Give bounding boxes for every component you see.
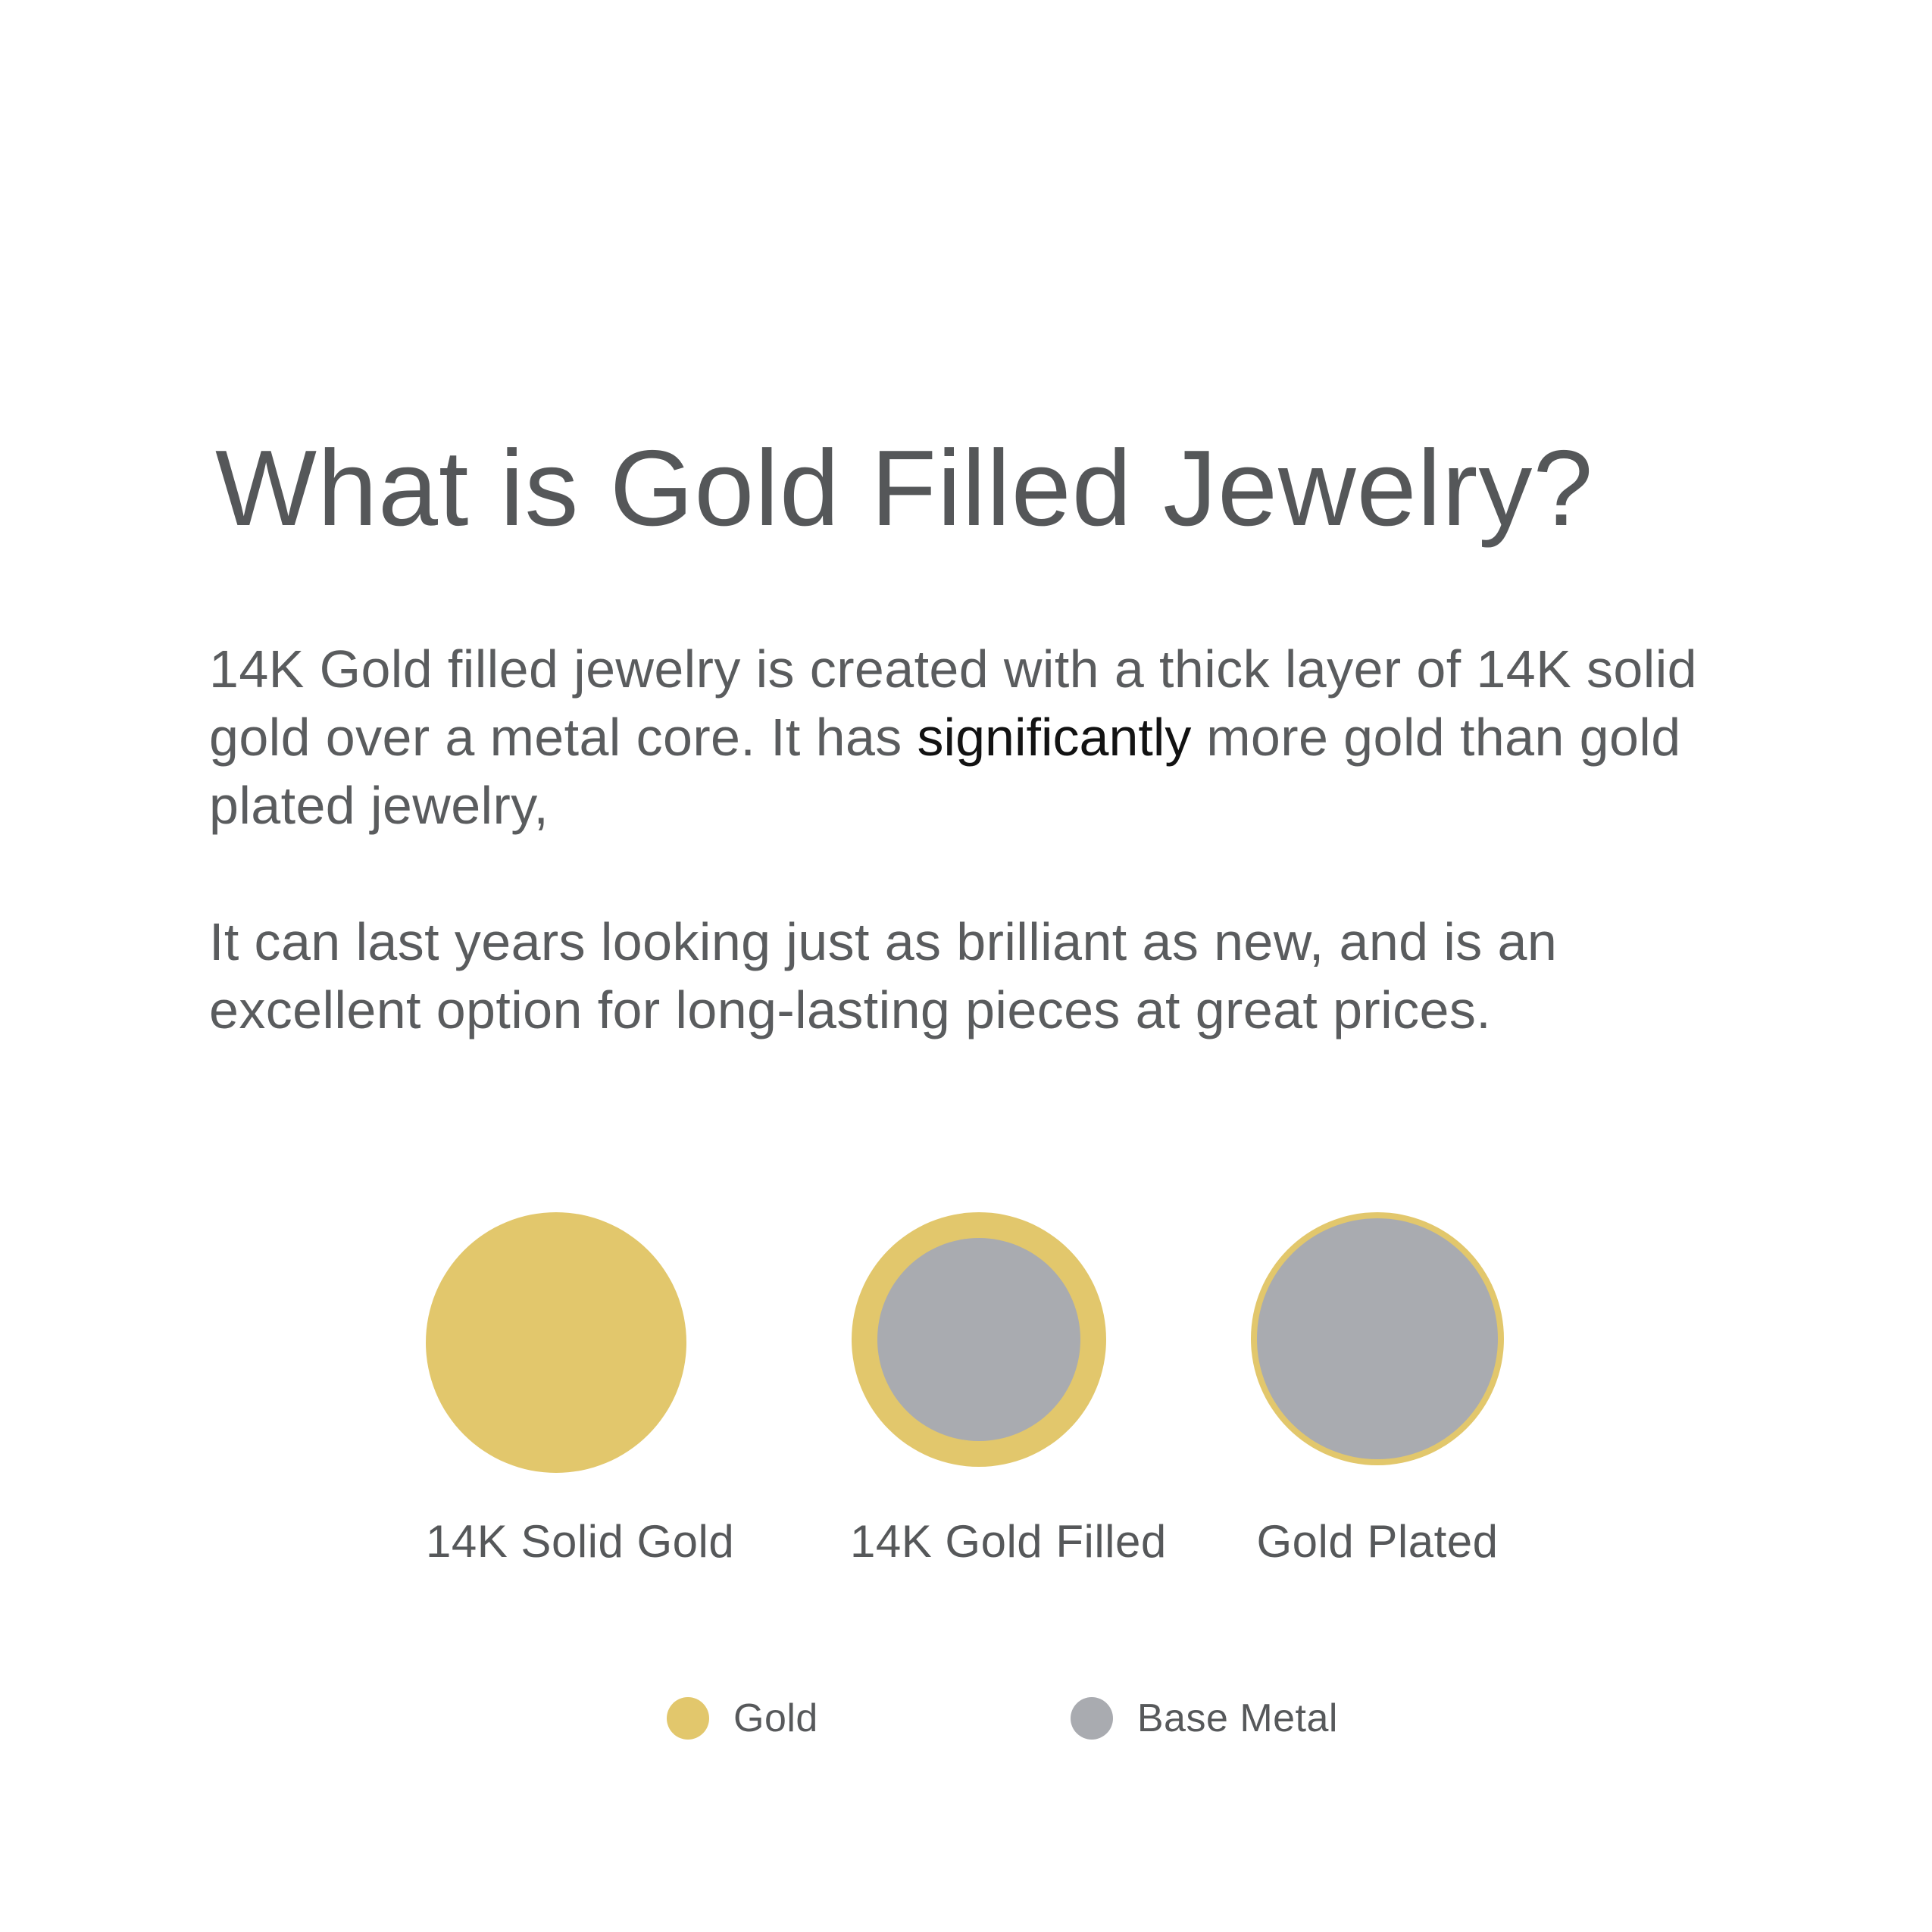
gold-filled-circle-icon bbox=[852, 1212, 1106, 1467]
diagram-label-gold-filled: 14K Gold Filled bbox=[850, 1515, 1108, 1568]
gold-plated-base-metal-core bbox=[1257, 1218, 1498, 1459]
solid-gold-circle-icon bbox=[426, 1212, 686, 1473]
paragraph-1-emphasis: significantly bbox=[918, 708, 1192, 767]
solid-gold-circle-wrap bbox=[426, 1212, 686, 1473]
legend-gold-dot-icon bbox=[667, 1697, 709, 1740]
legend-label-base-metal: Base Metal bbox=[1137, 1696, 1338, 1741]
paragraph-2: It can last years looking just as brilli… bbox=[209, 908, 1770, 1044]
gold-filled-circle-wrap bbox=[852, 1212, 1106, 1467]
legend-base-metal-dot-icon bbox=[1071, 1697, 1113, 1740]
legend-item-base-metal: Base Metal bbox=[1071, 1696, 1338, 1741]
legend: Gold Base Metal bbox=[667, 1696, 1338, 1741]
infographic-page: What is Gold Filled Jewelry? 14K Gold fi… bbox=[0, 0, 1932, 1932]
diagram-item-solid-gold: 14K Solid Gold bbox=[426, 1212, 686, 1473]
legend-label-gold: Gold bbox=[733, 1696, 818, 1741]
page-title: What is Gold Filled Jewelry? bbox=[215, 428, 1730, 549]
paragraph-1: 14K Gold filled jewelry is created with … bbox=[209, 635, 1770, 839]
comparison-diagram: 14K Solid Gold 14K Gold Filled Gold Plat… bbox=[0, 1212, 1932, 1637]
paragraph-2-segment-1: It can last years looking just as brilli… bbox=[209, 912, 1557, 1039]
diagram-item-gold-filled: 14K Gold Filled bbox=[852, 1212, 1106, 1467]
gold-plated-circle-icon bbox=[1251, 1212, 1504, 1465]
body-copy: 14K Gold filled jewelry is created with … bbox=[209, 635, 1770, 1044]
diagram-label-gold-plated: Gold Plated bbox=[1251, 1515, 1504, 1568]
legend-item-gold: Gold bbox=[667, 1696, 818, 1741]
gold-plated-circle-wrap bbox=[1251, 1212, 1504, 1465]
gold-filled-base-metal-core bbox=[877, 1238, 1080, 1441]
diagram-item-gold-plated: Gold Plated bbox=[1251, 1212, 1504, 1465]
diagram-label-solid-gold: 14K Solid Gold bbox=[426, 1515, 686, 1568]
